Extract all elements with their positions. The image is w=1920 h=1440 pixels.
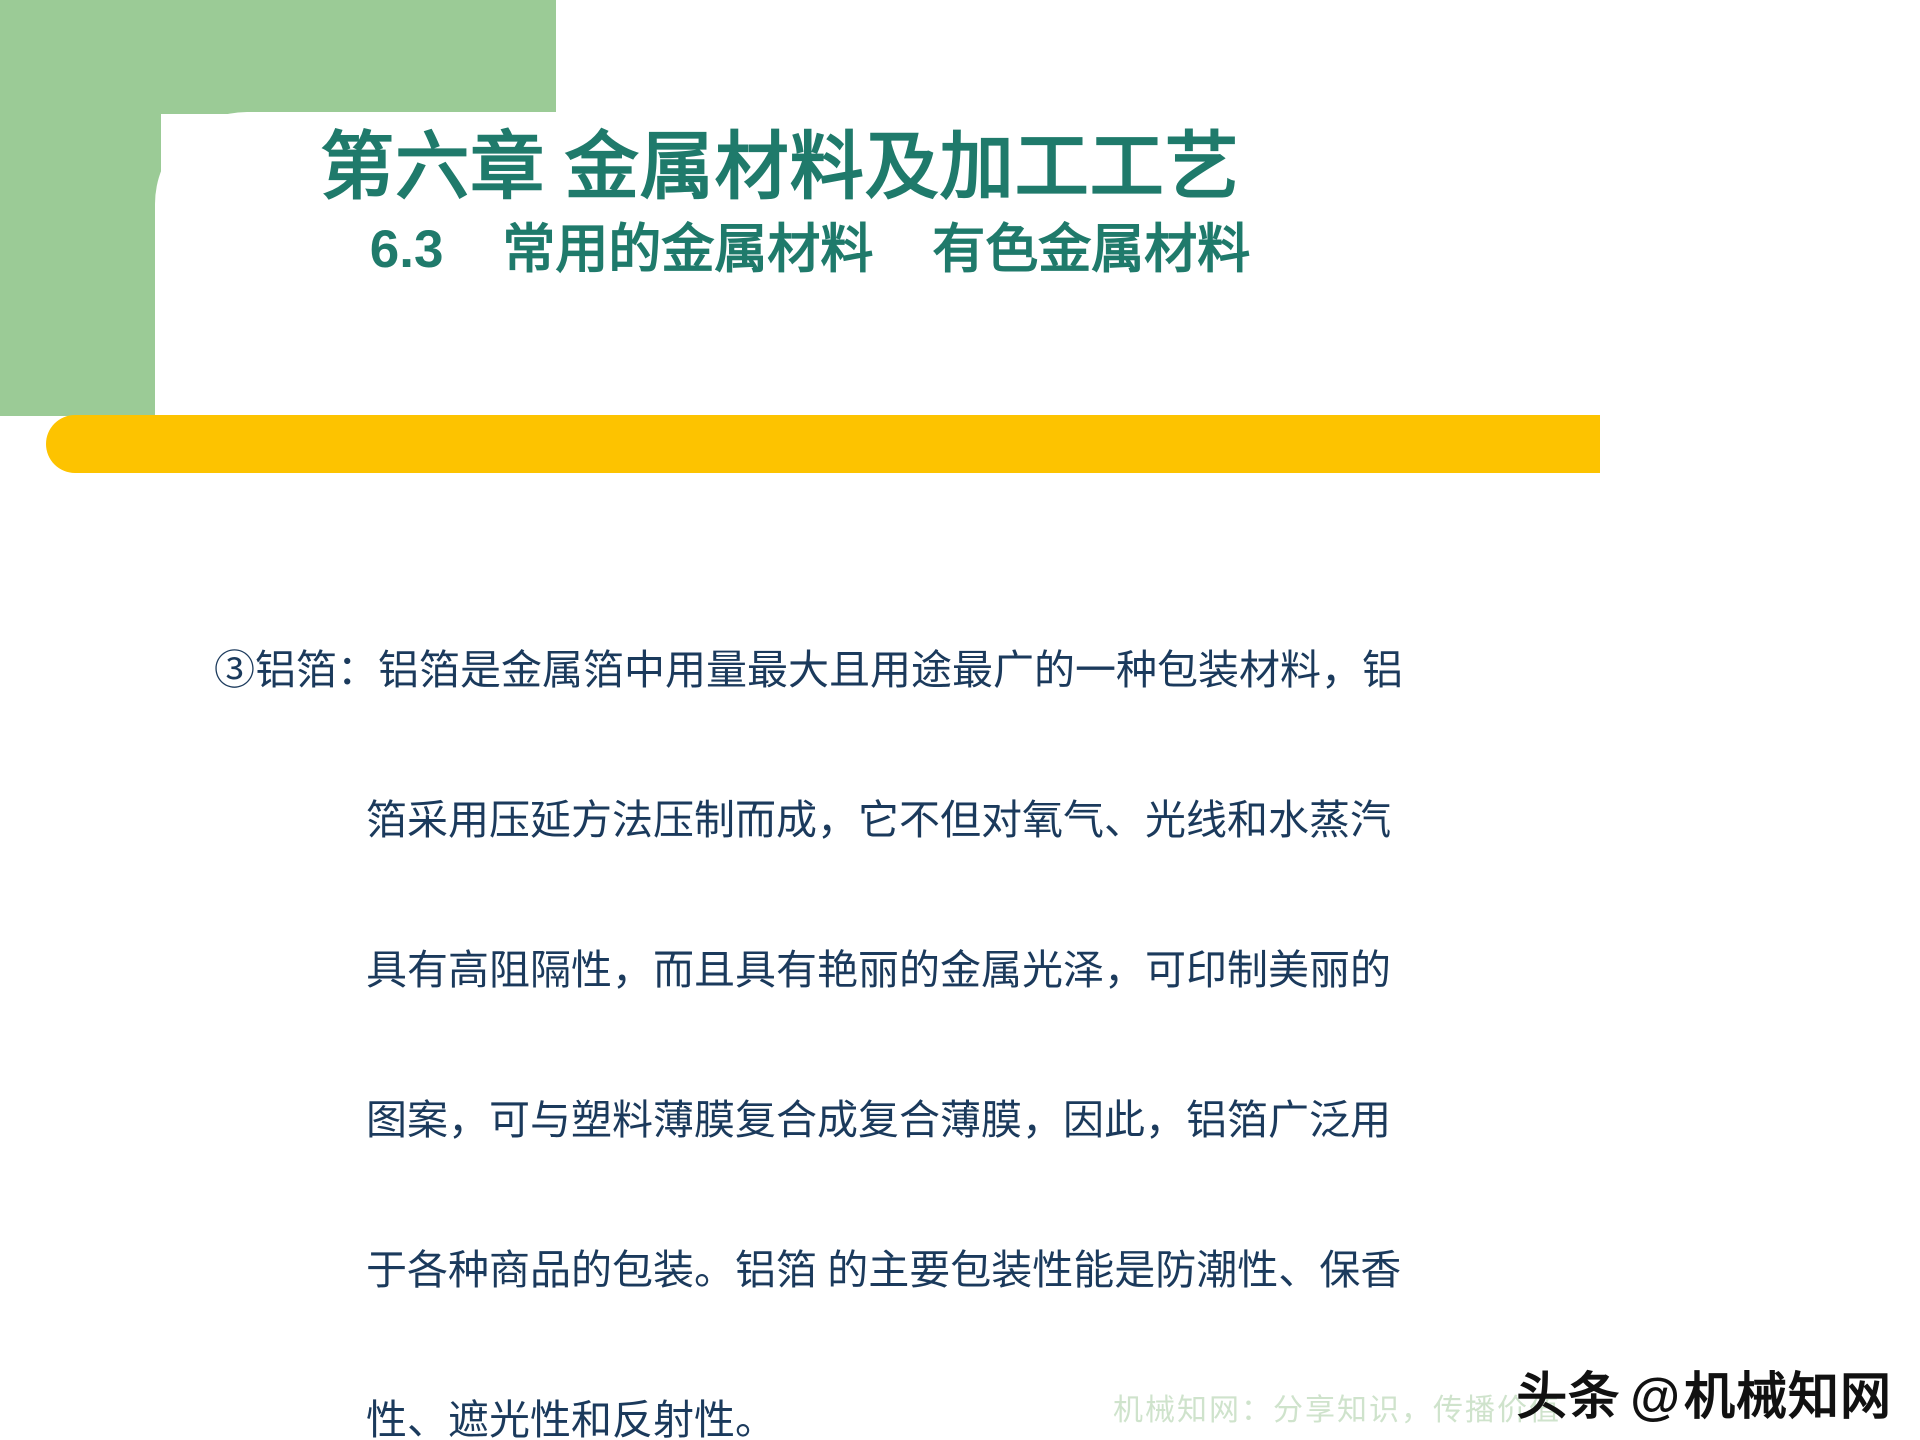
page-title: 第六章 金属材料及加工工艺	[0, 130, 1560, 208]
text-line: 箔采用压延方法压制而成，它不但对氧气、光线和水蒸汽	[214, 795, 1864, 845]
at-symbol-icon: @	[1630, 1367, 1680, 1426]
slide-canvas: 第六章 金属材料及加工工艺 6.3 常用的金属材料 有色金属材料 ③铝箔：铝箔是…	[0, 0, 1920, 1440]
brand-platform-label: 头条	[1516, 1355, 1620, 1429]
text-line: ③铝箔：铝箔是金属箔中用量最大且用途最广的一种包装材料，铝	[214, 645, 1864, 695]
site-watermark: 机械知网：分享知识，传播价值	[1113, 1385, 1561, 1429]
brand-watermark: 头条 @ 机械知网	[1516, 1355, 1892, 1429]
text-line: 于各种商品的包装。铝箔 的主要包装性能是防潮性、保香	[214, 1245, 1864, 1295]
paragraph-3: ③铝箔：铝箔是金属箔中用量最大且用途最广的一种包装材料，铝 箔采用压延方法压制而…	[214, 445, 1864, 1440]
body-content: ③铝箔：铝箔是金属箔中用量最大且用途最广的一种包装材料，铝 箔采用压延方法压制而…	[214, 445, 1864, 1440]
paragraph-3-lines: ③铝箔：铝箔是金属箔中用量最大且用途最广的一种包装材料，铝 箔采用压延方法压制而…	[214, 545, 1864, 1440]
brand-account-name: 机械知网	[1684, 1355, 1892, 1429]
green-header-block	[0, 0, 556, 114]
page-subtitle: 6.3 常用的金属材料 有色金属材料	[0, 214, 1560, 286]
text-line: 具有高阻隔性，而且具有艳丽的金属光泽，可印制美丽的	[214, 945, 1864, 995]
text-line: 图案，可与塑料薄膜复合成复合薄膜，因此，铝箔广泛用	[214, 1095, 1864, 1145]
title-area: 第六章 金属材料及加工工艺 6.3 常用的金属材料 有色金属材料	[0, 130, 1560, 285]
